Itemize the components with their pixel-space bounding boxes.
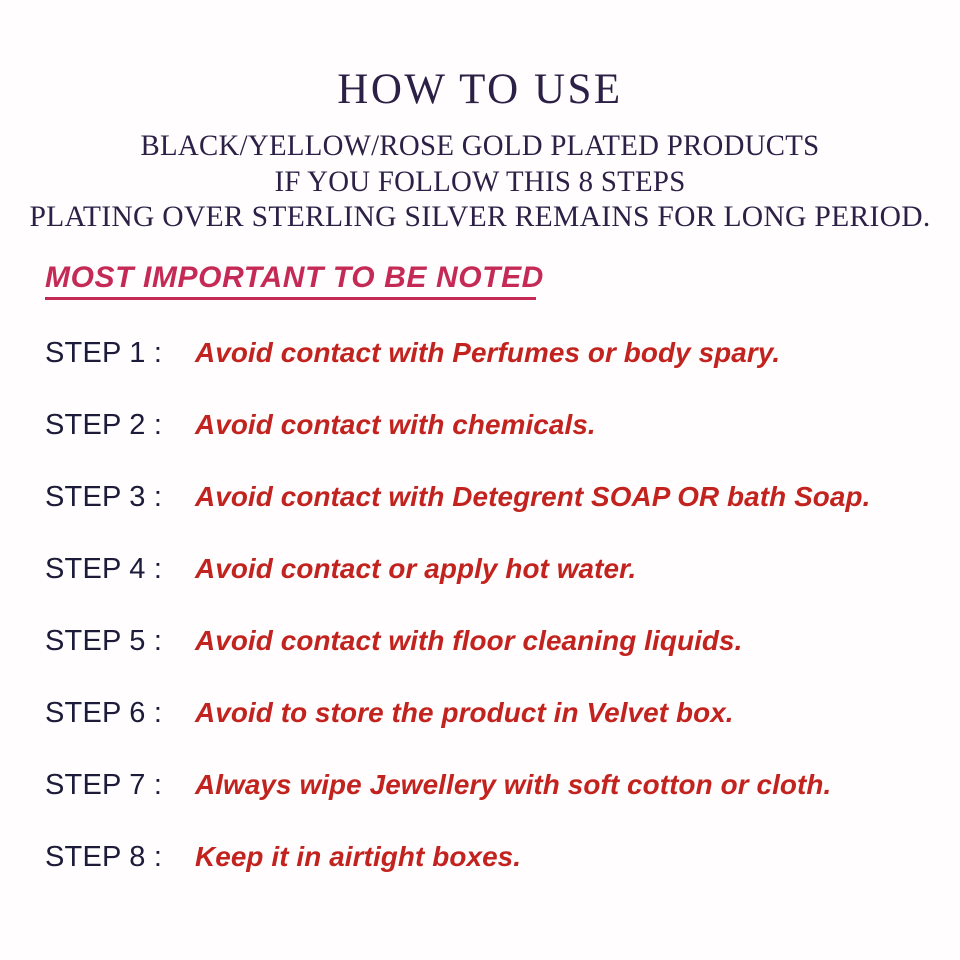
step-text: Avoid contact or apply hot water. [195,552,636,586]
step-text: Avoid contact with floor cleaning liquid… [195,624,742,658]
step-row: STEP 3 :Avoid contact with Detegrent SOA… [45,480,945,552]
subtitle-line-1: BLACK/YELLOW/ROSE GOLD PLATED PRODUCTS [19,128,941,164]
header-block: HOW TO USE BLACK/YELLOW/ROSE GOLD PLATED… [0,0,960,235]
step-text: Avoid contact with chemicals. [195,408,596,442]
step-label: STEP 1 : [45,336,195,370]
subtitle-line-2: IF YOU FOLLOW THIS 8 STEPS [19,164,941,199]
step-text: Avoid contact with Perfumes or body spar… [195,336,780,370]
step-row: STEP 4 :Avoid contact or apply hot water… [45,552,945,624]
important-notice-text: MOST IMPORTANT TO BE NOTED [45,261,544,295]
subtitle-block: BLACK/YELLOW/ROSE GOLD PLATED PRODUCTS I… [0,114,960,235]
step-text: Avoid contact with Detegrent SOAP OR bat… [195,480,870,514]
step-text: Avoid to store the product in Velvet box… [195,696,734,730]
step-row: STEP 5 :Avoid contact with floor cleanin… [45,624,945,696]
step-row: STEP 1 :Avoid contact with Perfumes or b… [45,336,945,408]
step-text: Keep it in airtight boxes. [195,840,521,874]
step-label: STEP 5 : [45,624,195,658]
important-notice: MOST IMPORTANT TO BE NOTED [45,261,544,295]
step-text: Always wipe Jewellery with soft cotton o… [195,768,831,802]
step-label: STEP 6 : [45,696,195,730]
step-label: STEP 8 : [45,840,195,874]
step-label: STEP 2 : [45,408,195,442]
step-row: STEP 2 :Avoid contact with chemicals. [45,408,945,480]
important-notice-underline [45,297,536,300]
step-label: STEP 7 : [45,768,195,802]
step-row: STEP 6 :Avoid to store the product in Ve… [45,696,945,768]
page-title: HOW TO USE [0,0,960,114]
step-label: STEP 3 : [45,480,195,514]
step-label: STEP 4 : [45,552,195,586]
steps-list: STEP 1 :Avoid contact with Perfumes or b… [45,336,945,912]
step-row: STEP 8 :Keep it in airtight boxes. [45,840,945,912]
step-row: STEP 7 :Always wipe Jewellery with soft … [45,768,945,840]
care-instructions-page: HOW TO USE BLACK/YELLOW/ROSE GOLD PLATED… [0,0,960,960]
subtitle-line-3: PLATING OVER STERLING SILVER REMAINS FOR… [7,199,953,235]
